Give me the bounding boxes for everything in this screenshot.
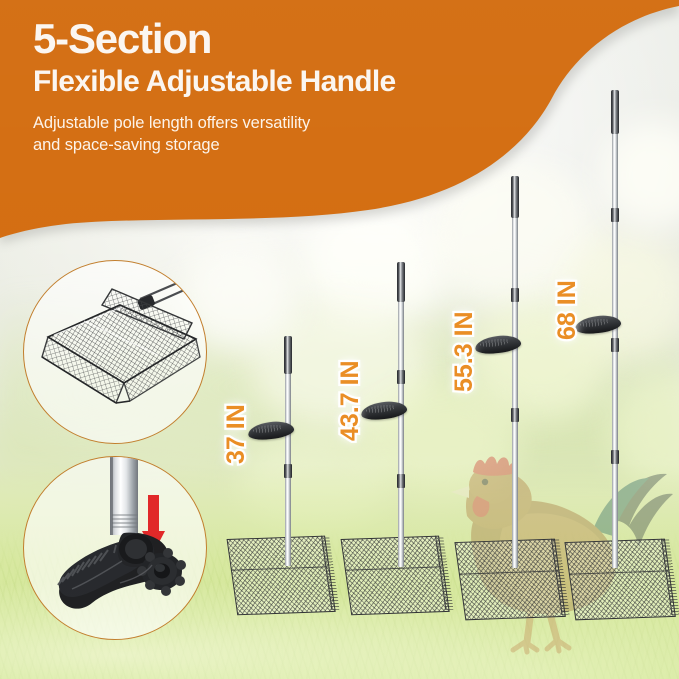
mesh-rake-head bbox=[341, 536, 448, 614]
measurement-label-37in: 37 IN bbox=[222, 404, 251, 464]
pole-shaft bbox=[398, 294, 404, 567]
inset-grip-handle bbox=[23, 456, 207, 640]
pole-joint bbox=[284, 464, 292, 478]
inset-mesh-basket bbox=[23, 260, 207, 444]
mesh-panel bbox=[564, 539, 675, 621]
pole-shaft bbox=[512, 210, 518, 568]
header-description: Adjustable pole length offers versatilit… bbox=[33, 112, 553, 157]
pole-joint bbox=[511, 288, 519, 302]
pole-joint bbox=[397, 474, 405, 488]
mesh-basket-icon bbox=[24, 261, 206, 443]
header-description-line2: and space-saving storage bbox=[33, 134, 553, 156]
mesh-panel bbox=[454, 539, 565, 621]
mesh-rake-head bbox=[227, 536, 334, 614]
measurement-label-68in: 68 IN bbox=[553, 280, 582, 340]
page-subtitle-heading: Flexible Adjustable Handle bbox=[33, 65, 553, 99]
pole-joint bbox=[611, 450, 619, 464]
pole-joint bbox=[397, 370, 405, 384]
header-text-block: 5-Section Flexible Adjustable Handle Adj… bbox=[33, 18, 553, 156]
mesh-rake-head bbox=[454, 539, 563, 619]
mesh-panel bbox=[227, 536, 336, 616]
grip-handle-icon bbox=[24, 457, 206, 639]
pole-grip bbox=[397, 262, 405, 302]
page-title: 5-Section bbox=[33, 18, 553, 60]
pole-grip bbox=[284, 336, 292, 374]
header-banner: 5-Section Flexible Adjustable Handle Adj… bbox=[0, 0, 679, 260]
measurement-label-55in: 55.3 IN bbox=[450, 311, 479, 392]
measurement-label-43in: 43.7 IN bbox=[336, 360, 365, 441]
product-infographic: 5-Section Flexible Adjustable Handle Adj… bbox=[0, 0, 679, 679]
mesh-panel bbox=[341, 536, 450, 616]
mesh-rake-head bbox=[564, 539, 673, 619]
pole-joint bbox=[511, 408, 519, 422]
header-description-line1: Adjustable pole length offers versatilit… bbox=[33, 112, 553, 134]
pole-joint bbox=[611, 338, 619, 352]
